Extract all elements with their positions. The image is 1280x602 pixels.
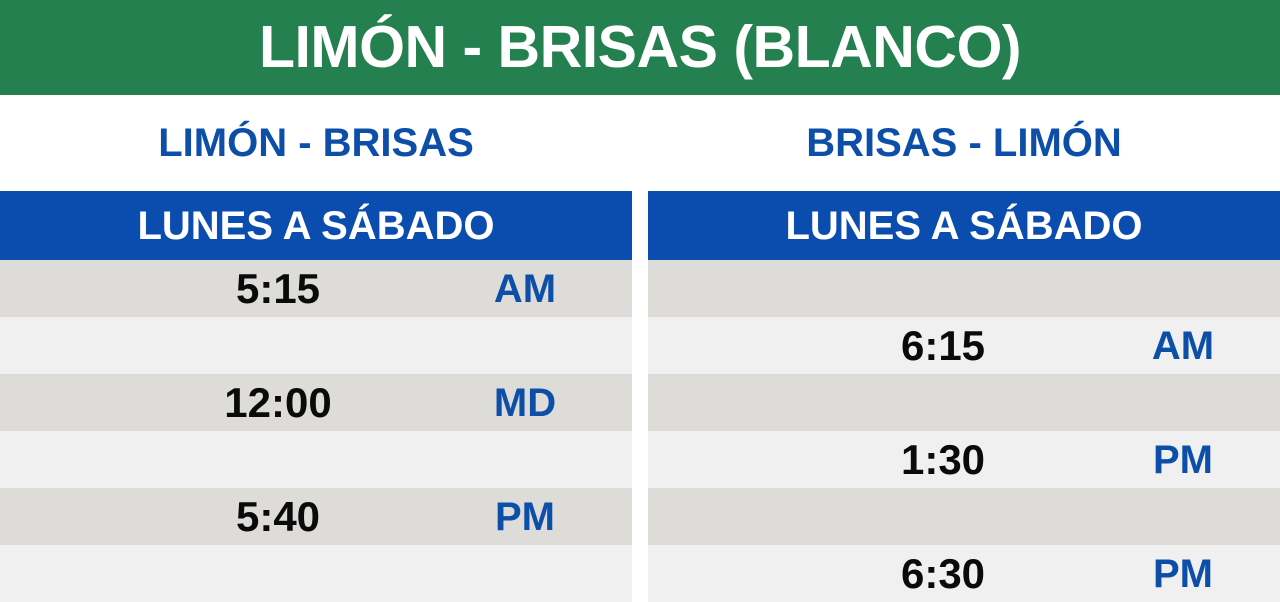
table-row: 1:30 PM <box>648 431 1280 488</box>
route-title-banner: LIMÓN - BRISAS (BLANCO) <box>0 0 1280 95</box>
days-header-outbound-label: LUNES A SÁBADO <box>137 206 494 246</box>
table-row: 12:00 MD <box>0 374 632 431</box>
departure-time: 12:00 <box>148 382 408 424</box>
direction-title-inbound: BRISAS - LIMÓN <box>648 95 1280 191</box>
departure-meridiem: PM <box>1118 554 1248 594</box>
table-row: 6:30 PM <box>648 545 1280 602</box>
table-row: 6:15 AM <box>648 317 1280 374</box>
departure-time: 6:30 <box>813 553 1073 595</box>
schedule-page: LIMÓN - BRISAS (BLANCO) LIMÓN - BRISAS L… <box>0 0 1280 601</box>
days-header-inbound: LUNES A SÁBADO <box>648 191 1280 260</box>
table-row: 5:40 PM <box>0 488 632 545</box>
direction-title-inbound-label: BRISAS - LIMÓN <box>806 123 1122 163</box>
direction-title-outbound: LIMÓN - BRISAS <box>0 95 632 191</box>
departure-time: 5:15 <box>148 268 408 310</box>
schedule-column-outbound: LIMÓN - BRISAS LUNES A SÁBADO 5:15 AM 12… <box>0 95 632 601</box>
days-header-outbound: LUNES A SÁBADO <box>0 191 632 260</box>
schedule-columns: LIMÓN - BRISAS LUNES A SÁBADO 5:15 AM 12… <box>0 95 1280 601</box>
table-row <box>648 260 1280 317</box>
departure-meridiem: PM <box>460 497 590 537</box>
departure-meridiem: MD <box>460 383 590 423</box>
departure-rows-outbound: 5:15 AM 12:00 MD 5:40 PM <box>0 260 632 602</box>
departure-time: 1:30 <box>813 439 1073 481</box>
departure-rows-inbound: 6:15 AM 1:30 PM 6:30 PM <box>648 260 1280 602</box>
table-row <box>648 374 1280 431</box>
column-divider <box>632 95 648 601</box>
table-row <box>0 545 632 602</box>
table-row <box>0 317 632 374</box>
departure-time: 6:15 <box>813 325 1073 367</box>
table-row <box>648 488 1280 545</box>
days-header-inbound-label: LUNES A SÁBADO <box>785 206 1142 246</box>
departure-time: 5:40 <box>148 496 408 538</box>
departure-meridiem: AM <box>460 269 590 309</box>
departure-meridiem: AM <box>1118 326 1248 366</box>
table-row: 5:15 AM <box>0 260 632 317</box>
schedule-column-inbound: BRISAS - LIMÓN LUNES A SÁBADO 6:15 AM <box>648 95 1280 601</box>
direction-title-outbound-label: LIMÓN - BRISAS <box>158 123 474 163</box>
table-row <box>0 431 632 488</box>
route-title: LIMÓN - BRISAS (BLANCO) <box>259 18 1021 77</box>
departure-meridiem: PM <box>1118 440 1248 480</box>
